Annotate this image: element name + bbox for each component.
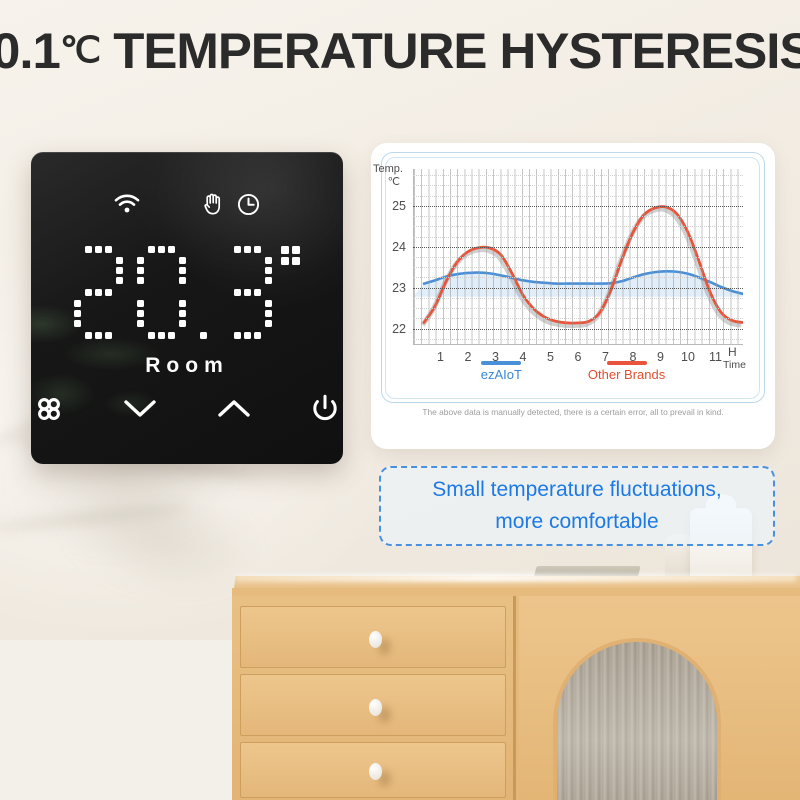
callout-line-1: Small temperature fluctuations, [432, 475, 721, 505]
sideboard-drawer [240, 674, 506, 736]
clock-icon [237, 193, 260, 216]
gridline-y [413, 206, 743, 207]
wifi-icon [114, 194, 140, 214]
legend-swatch [481, 361, 521, 365]
gridline-y-minor [413, 196, 743, 197]
chevron-up-icon[interactable] [217, 398, 251, 420]
legend-label: Other Brands [588, 367, 665, 382]
fluted-glass-door [553, 638, 721, 800]
title-value: 0.1 [0, 23, 60, 79]
sideboard-drawer-column [232, 596, 516, 800]
gridline-y [413, 247, 743, 248]
gridline-y-minor [413, 339, 743, 340]
control-button-row [31, 394, 343, 423]
chart-disclaimer: The above data is manually detected, the… [371, 407, 775, 417]
lcd-digit-2 [72, 244, 126, 344]
degree-symbol-icon [279, 244, 303, 344]
page-title: 0.1℃ TEMPERATURE HYSTERESIS [0, 22, 800, 80]
legend-label: ezAIoT [481, 367, 522, 382]
x-axis-unit: H [728, 345, 737, 359]
drawer-knob [369, 699, 382, 716]
legend-item-other-brands: Other Brands [588, 361, 665, 382]
gridline-y-minor [413, 318, 743, 319]
y-tick-label: 24 [392, 240, 406, 254]
y-axis-label: Temp. [373, 163, 403, 175]
temperature-reading [31, 244, 343, 344]
chart-plot-area: 25242322 1234567891011 [413, 169, 743, 345]
gridline-y-minor [413, 237, 743, 238]
gridline-y-minor [413, 175, 743, 176]
gridline-y-minor [413, 226, 743, 227]
sideboard-cabinet [519, 596, 800, 800]
y-axis-title: Temp. ℃ [373, 163, 403, 189]
lcd-digit-3 [221, 244, 275, 344]
gridline-y-minor [413, 277, 743, 278]
chevron-down-icon[interactable] [123, 398, 157, 420]
chart-legend: ezAIoT Other Brands [371, 361, 775, 382]
callout-line-2: more comfortable [495, 507, 658, 537]
lcd-decimal-point [198, 244, 212, 344]
sideboard-top-highlight [236, 574, 796, 582]
status-icon-row [31, 192, 343, 216]
hand-icon [202, 192, 225, 216]
y-tick-label: 22 [392, 322, 406, 336]
gridline-y-minor [413, 216, 743, 217]
sideboard-drawer [240, 606, 506, 668]
drawer-knob [369, 763, 382, 780]
mode-label: Room [31, 354, 343, 378]
thermostat-device[interactable]: Room [31, 152, 343, 464]
drawer-knob [369, 631, 382, 648]
gridline-y-minor [413, 308, 743, 309]
y-tick-label: 23 [392, 281, 406, 295]
comparison-chart-card: Temp. ℃ 25242322 1234567891011 H Time ez… [371, 143, 775, 449]
title-degree-unit: ℃ [60, 29, 100, 70]
title-rest: TEMPERATURE HYSTERESIS [100, 23, 800, 79]
gridline-y-minor [413, 267, 743, 268]
callout-box: Small temperature fluctuations, more com… [379, 466, 775, 546]
lcd-digit-group [72, 244, 275, 344]
gridline-y-minor [413, 298, 743, 299]
legend-swatch [607, 361, 647, 365]
lcd-digit-0 [135, 244, 189, 344]
y-tick-label: 25 [392, 199, 406, 213]
gridline-y [413, 288, 743, 289]
fan-icon[interactable] [35, 395, 63, 423]
sideboard-drawer [240, 742, 506, 798]
gridline-y [413, 329, 743, 330]
gridline-y-minor [413, 185, 743, 186]
gridline-y-minor [413, 257, 743, 258]
y-axis-unit: ℃ [373, 176, 403, 189]
legend-item-ezaiot: ezAIoT [481, 361, 522, 382]
power-icon[interactable] [311, 394, 339, 423]
